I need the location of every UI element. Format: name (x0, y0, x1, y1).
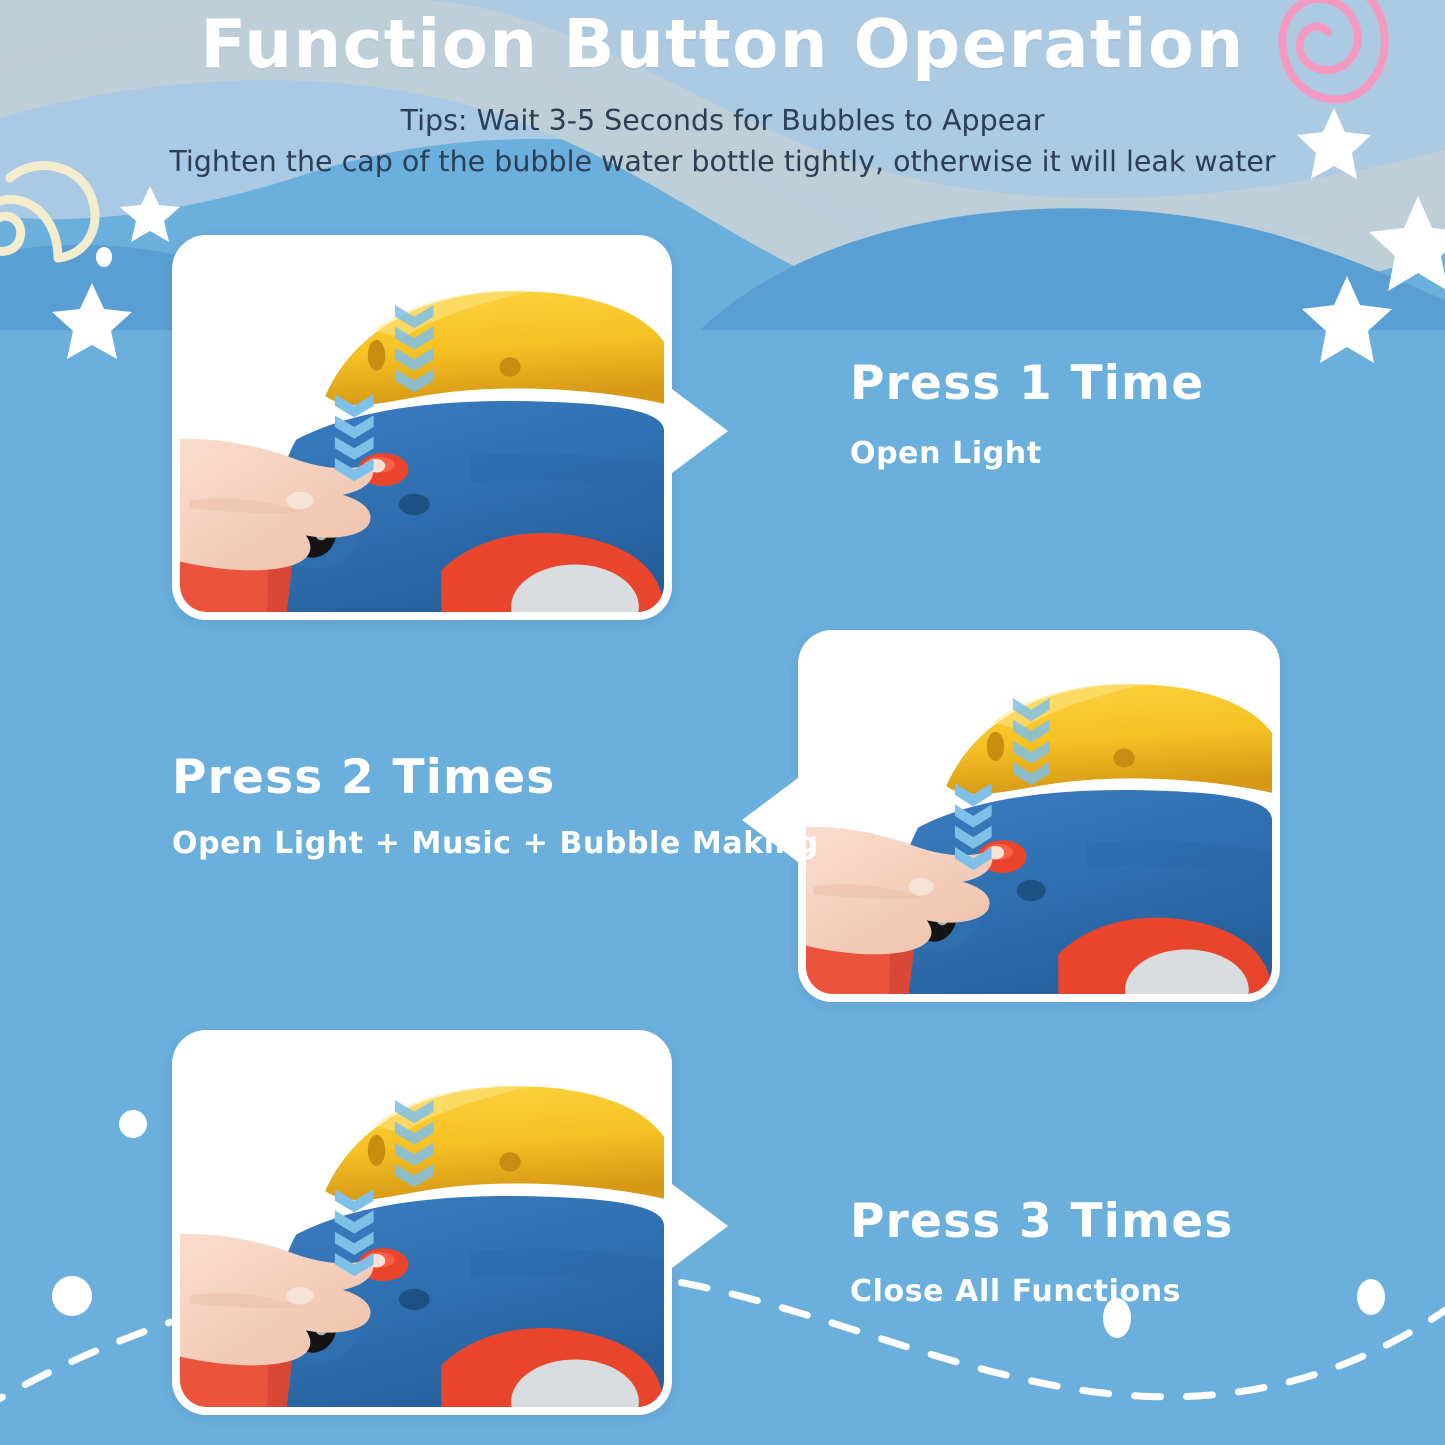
white-star (1302, 276, 1392, 363)
step-1-pointer (672, 389, 728, 473)
step-3-photo (180, 1038, 664, 1407)
white-dot (119, 1110, 147, 1138)
step-1-photo (180, 243, 664, 612)
step-2-subtitle: Open Light + Music + Bubble Making (172, 826, 819, 861)
page-title: Function Button Operation (0, 6, 1445, 83)
step-2-title: Press 2 Times (172, 752, 819, 804)
bubble-machine-photo-2 (806, 638, 1272, 994)
step-3-photo-card (172, 1030, 672, 1415)
step-1-subtitle: Open Light (850, 436, 1204, 471)
white-star (52, 283, 132, 359)
white-dot (52, 1276, 92, 1316)
infographic-canvas: Function Button Operation Tips: Wait 3-5… (0, 0, 1445, 1445)
step-3-caption: Press 3 Times Close All Functions (850, 1196, 1233, 1309)
step-1-title: Press 1 Time (850, 358, 1204, 410)
white-star (1369, 196, 1445, 291)
header: Function Button Operation Tips: Wait 3-5… (0, 0, 1445, 182)
step-3-subtitle: Close All Functions (850, 1274, 1233, 1309)
step-2-photo-card (798, 630, 1280, 1002)
bubble-machine-photo-3 (180, 1038, 664, 1407)
white-dot (1357, 1279, 1385, 1315)
step-3-pointer (672, 1184, 728, 1268)
tips-line-2: Tighten the cap of the bubble water bott… (0, 142, 1445, 182)
bubble-machine-photo-1 (180, 243, 664, 612)
white-dot (96, 247, 112, 267)
step-2-caption: Press 2 Times Open Light + Music + Bubbl… (172, 752, 819, 861)
tips-line-1: Tips: Wait 3-5 Seconds for Bubbles to Ap… (0, 101, 1445, 141)
step-3-title: Press 3 Times (850, 1196, 1233, 1248)
step-1-photo-card (172, 235, 672, 620)
wave-deep-blue-hill (700, 208, 1445, 330)
step-1-caption: Press 1 Time Open Light (850, 358, 1204, 471)
white-star (120, 186, 180, 242)
tips-text: Tips: Wait 3-5 Seconds for Bubbles to Ap… (0, 101, 1445, 182)
step-2-photo (806, 638, 1272, 994)
